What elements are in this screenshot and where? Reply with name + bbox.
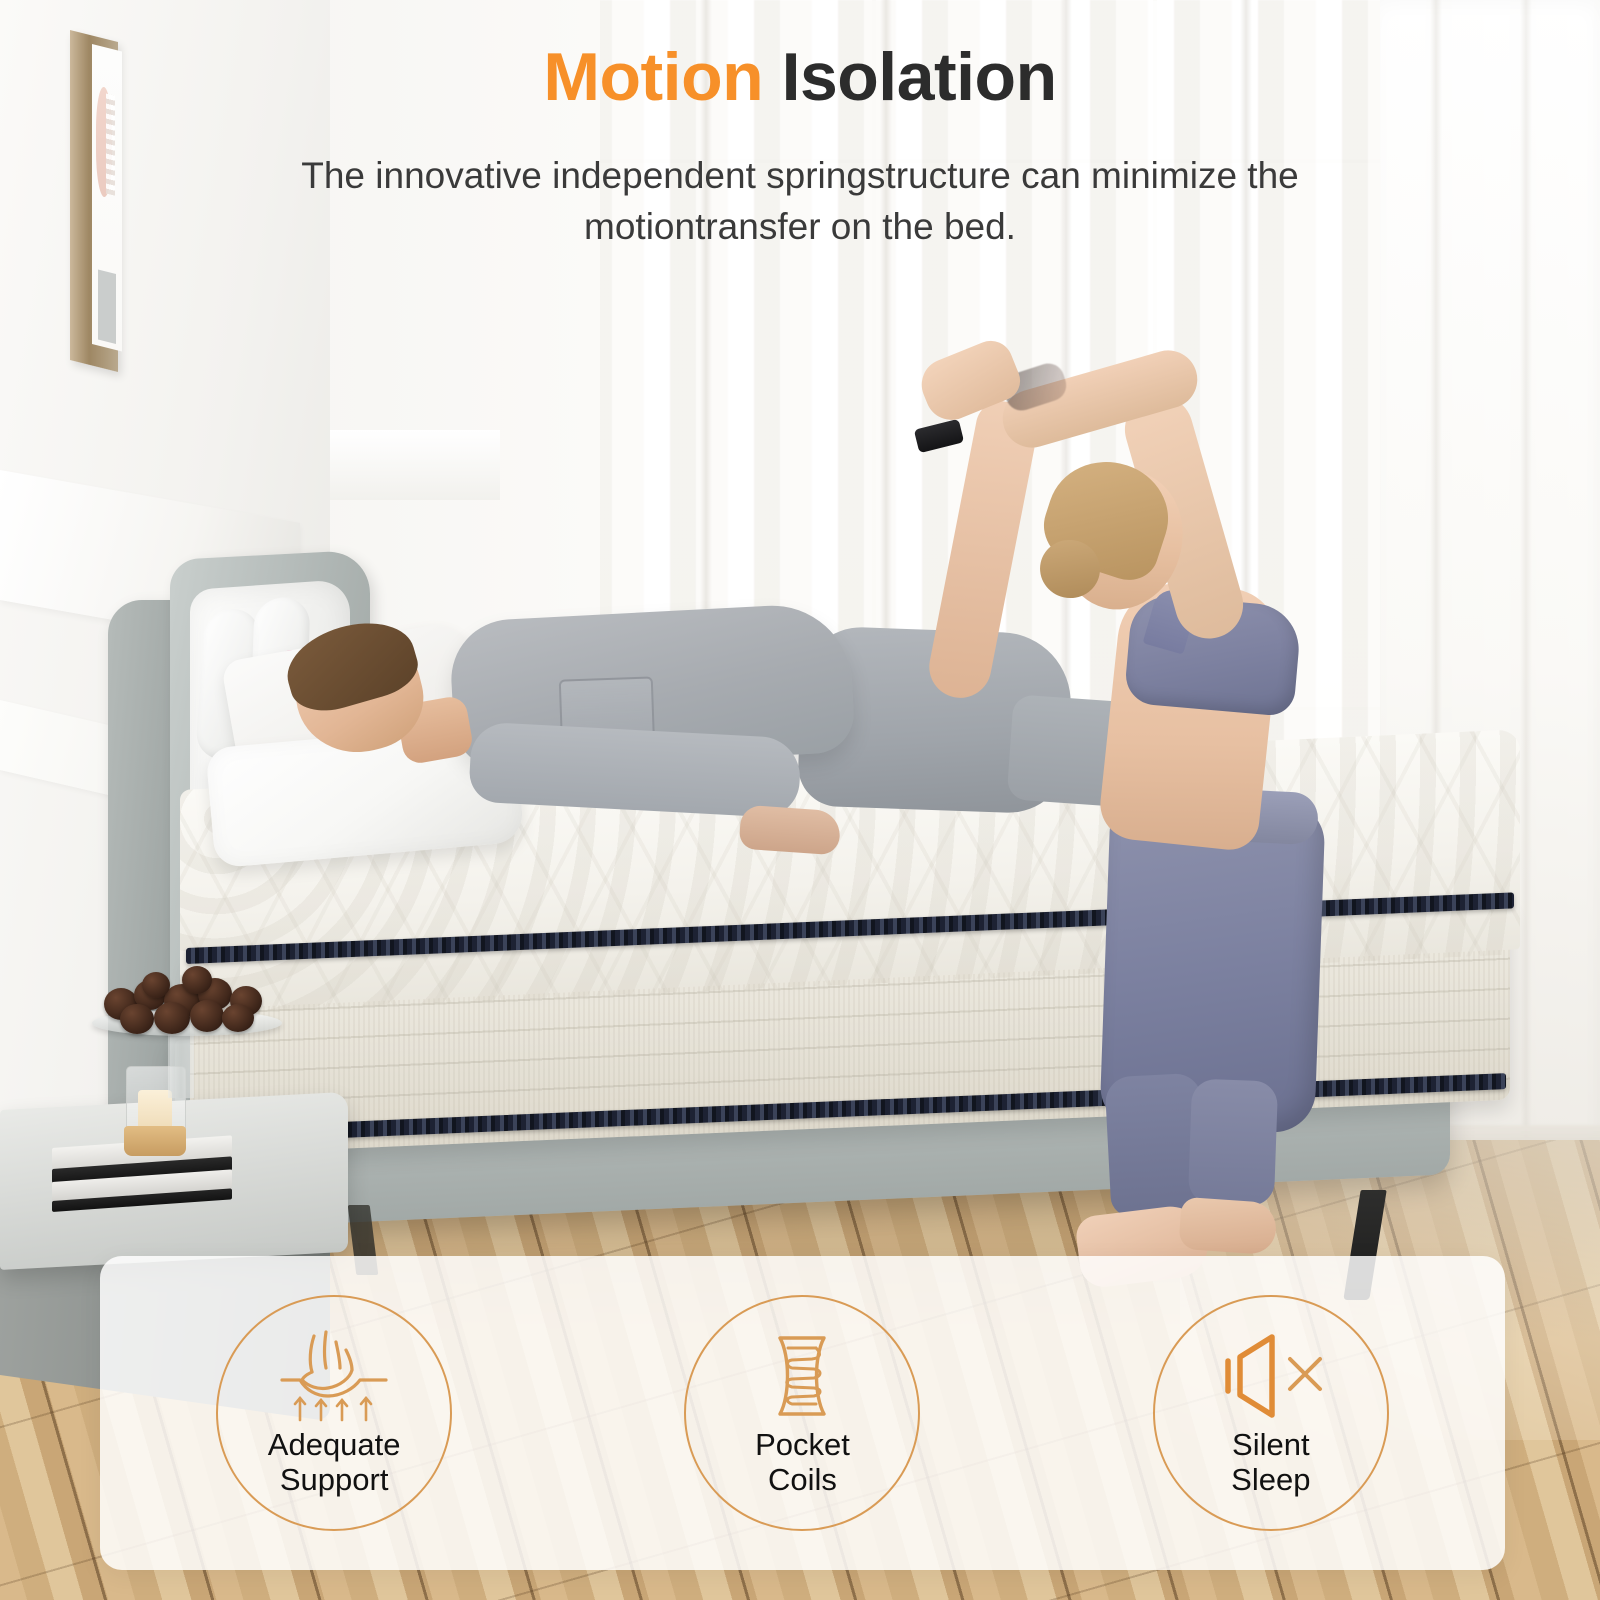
man-hand: [739, 805, 842, 856]
pocket-coil-spring-icon: [754, 1328, 850, 1424]
wall-niche: [300, 430, 500, 500]
art-shape-bar: [98, 269, 116, 343]
feature-badge-silent-sleep[interactable]: Silent Sleep: [1153, 1295, 1389, 1531]
pillar-candle: [138, 1090, 172, 1130]
feature-label-line1: Adequate: [268, 1428, 401, 1463]
muted-speaker-icon: [1216, 1328, 1326, 1424]
title-rest-word: Isolation: [782, 39, 1057, 115]
feature-label: Silent Sleep: [1231, 1428, 1310, 1497]
feature-label-line2: Support: [268, 1463, 401, 1498]
feature-badge-adequate-support[interactable]: Adequate Support: [216, 1295, 452, 1531]
woman-foot: [1178, 1197, 1277, 1256]
feature-label: Pocket Coils: [755, 1428, 850, 1497]
feature-label-line2: Coils: [755, 1463, 850, 1498]
product-feature-image: Motion Isolation The innovative independ…: [0, 0, 1600, 1600]
cake-stand-stem: [168, 1028, 194, 1098]
feature-badge-pocket-coils[interactable]: Pocket Coils: [684, 1295, 920, 1531]
curtain-fold: [1520, 0, 1532, 1190]
woman-shin: [1188, 1079, 1278, 1207]
feature-label-line1: Pocket: [755, 1428, 850, 1463]
hand-pressing-mattress-icon: [274, 1328, 394, 1424]
title-accent-word: Motion: [543, 39, 763, 115]
feature-label: Adequate Support: [268, 1428, 401, 1497]
page-subtitle: The innovative independent springstructu…: [290, 150, 1310, 252]
feature-label-line2: Sleep: [1231, 1463, 1310, 1498]
feature-panel: Adequate Support Pocket Coils: [100, 1256, 1505, 1570]
candle-wood-base: [124, 1126, 186, 1156]
page-title: Motion Isolation: [0, 42, 1600, 113]
feature-label-line1: Silent: [1231, 1428, 1310, 1463]
